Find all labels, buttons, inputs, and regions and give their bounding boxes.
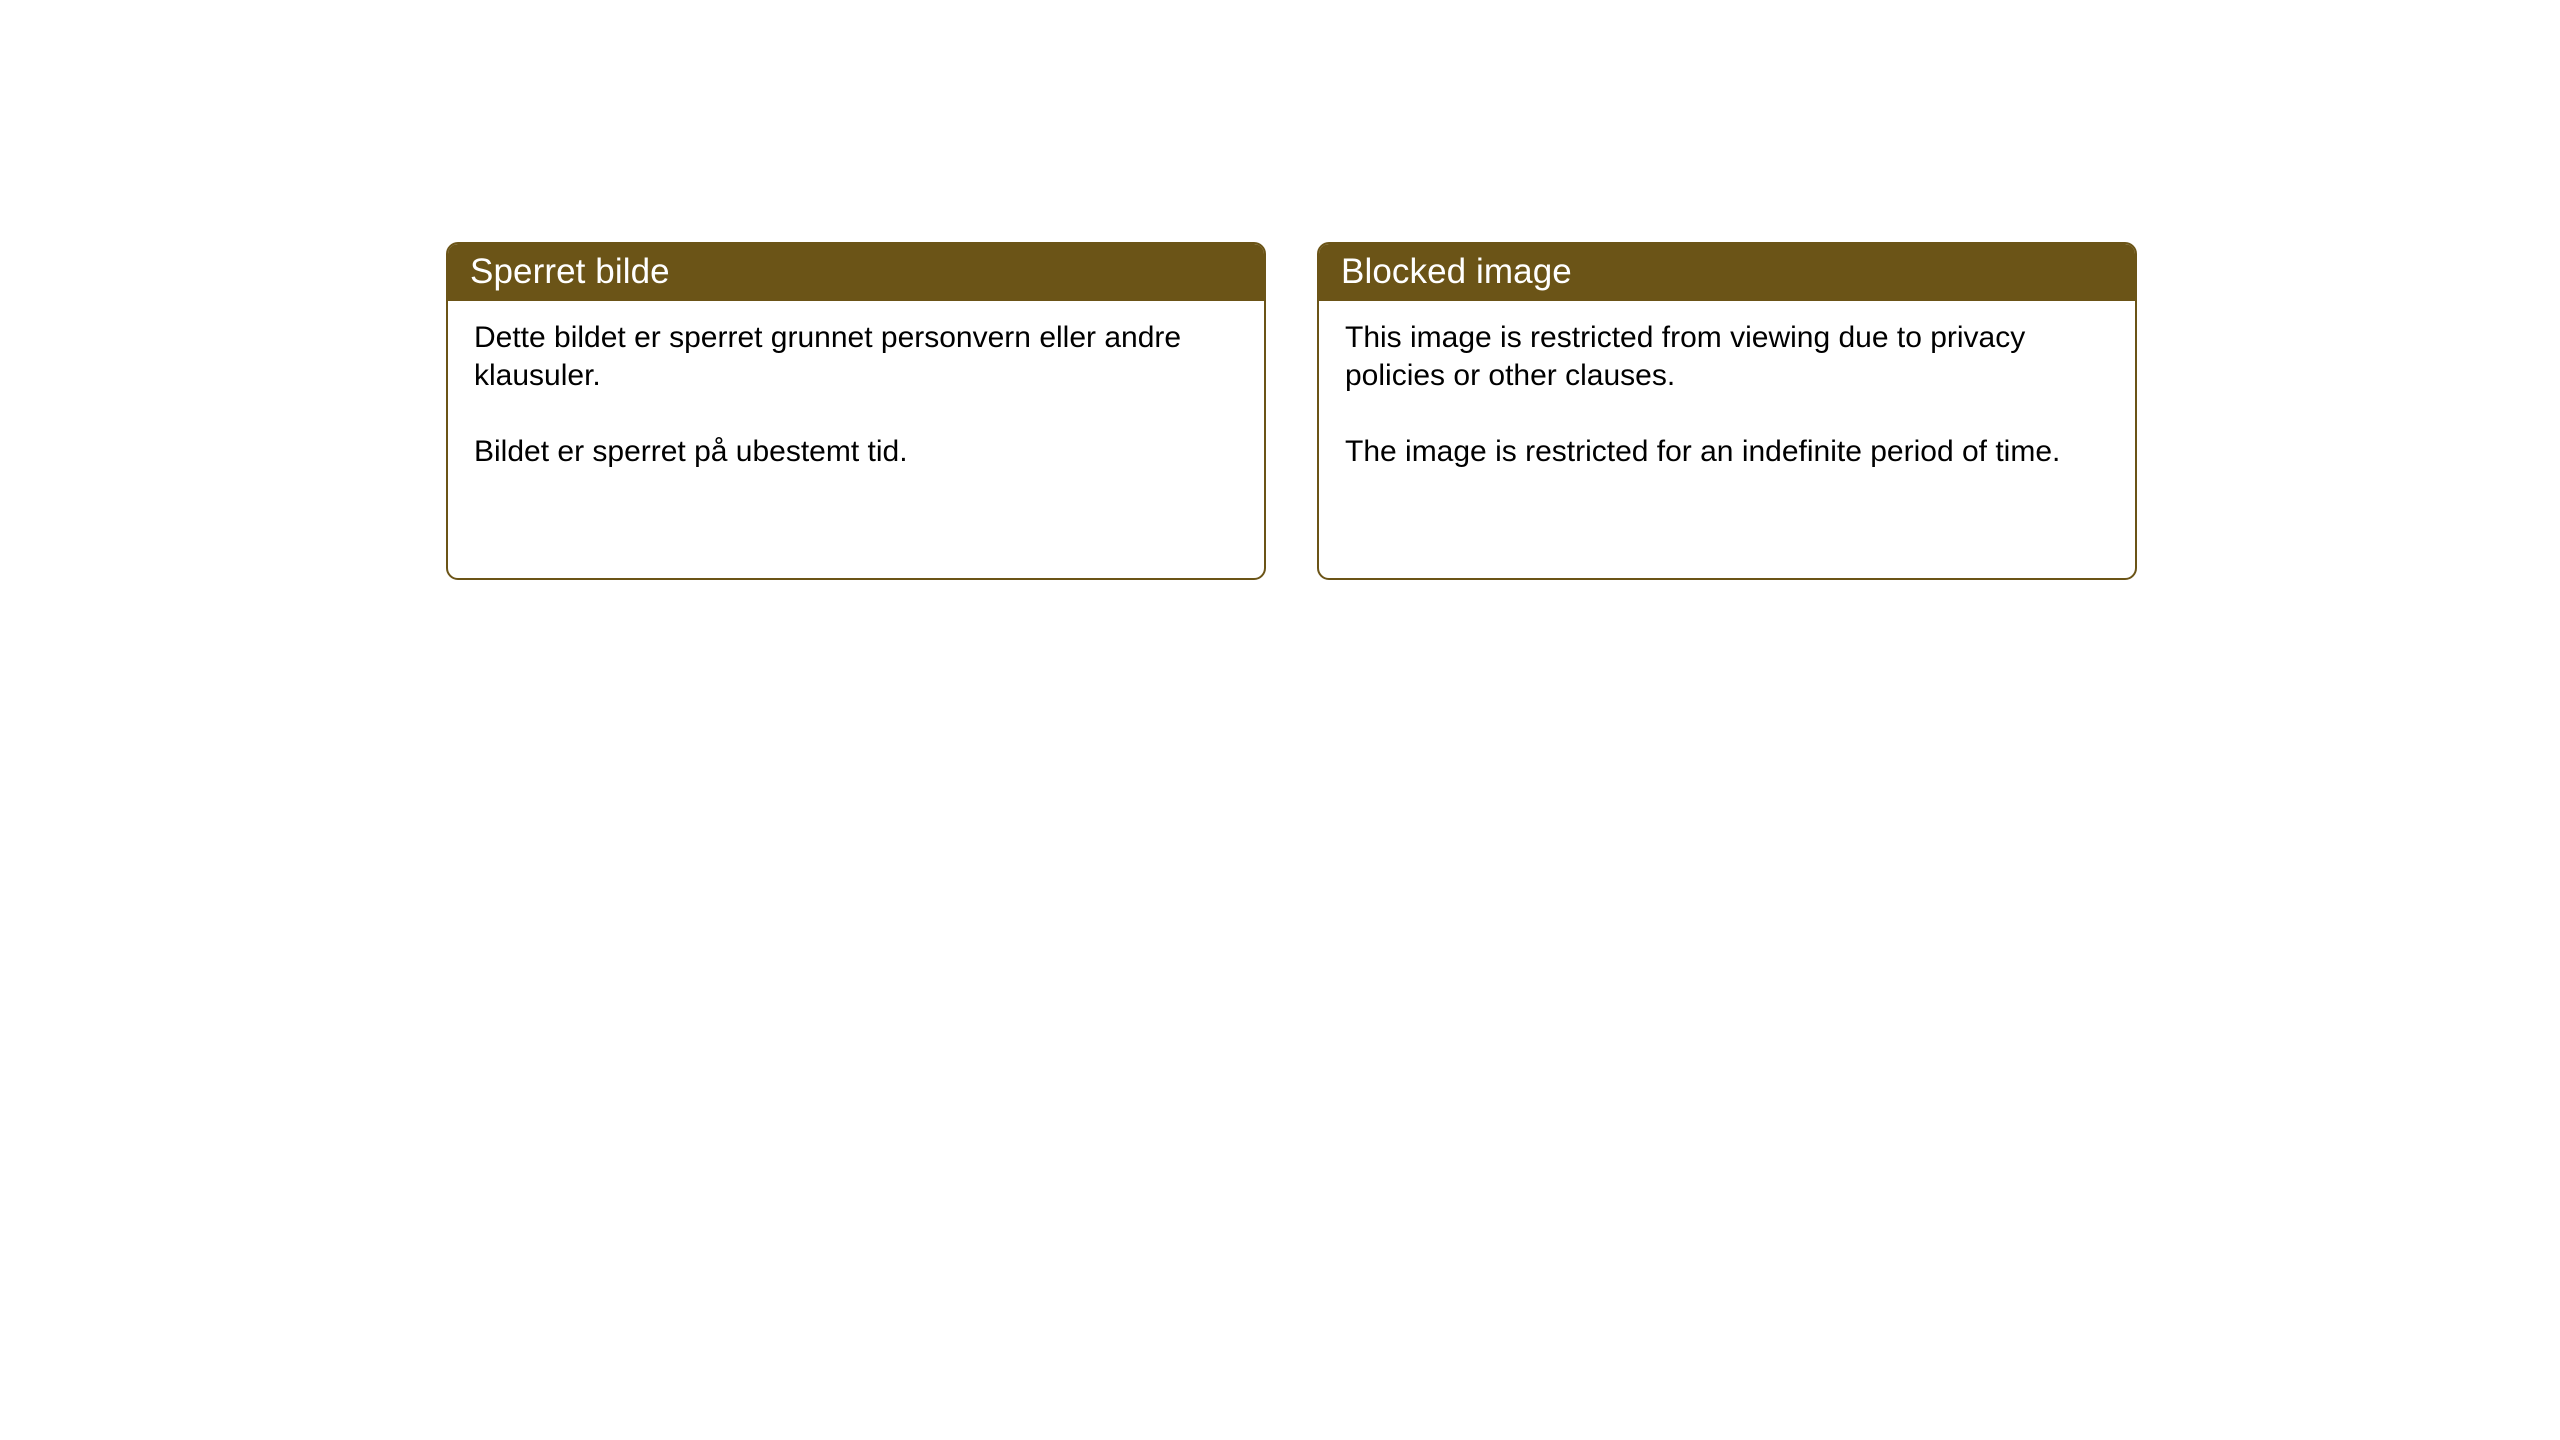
page-canvas: Sperret bilde Dette bildet er sperret gr… xyxy=(0,0,2560,1440)
panel-paragraph-secondary-english: The image is restricted for an indefinit… xyxy=(1345,433,2109,471)
panel-body-norwegian: Dette bildet er sperret grunnet personve… xyxy=(448,301,1264,471)
blocked-image-notice-english: Blocked image This image is restricted f… xyxy=(1317,242,2137,580)
blocked-image-notice-norwegian: Sperret bilde Dette bildet er sperret gr… xyxy=(446,242,1266,580)
panel-body-english: This image is restricted from viewing du… xyxy=(1319,301,2135,471)
panel-header-english: Blocked image xyxy=(1317,242,2137,301)
panel-title-norwegian: Sperret bilde xyxy=(470,254,670,289)
panel-paragraph-primary-english: This image is restricted from viewing du… xyxy=(1345,319,2109,396)
panel-paragraph-primary-norwegian: Dette bildet er sperret grunnet personve… xyxy=(474,319,1238,396)
panel-title-english: Blocked image xyxy=(1341,254,1572,289)
panel-header-norwegian: Sperret bilde xyxy=(446,242,1266,301)
panel-paragraph-secondary-norwegian: Bildet er sperret på ubestemt tid. xyxy=(474,433,1238,471)
